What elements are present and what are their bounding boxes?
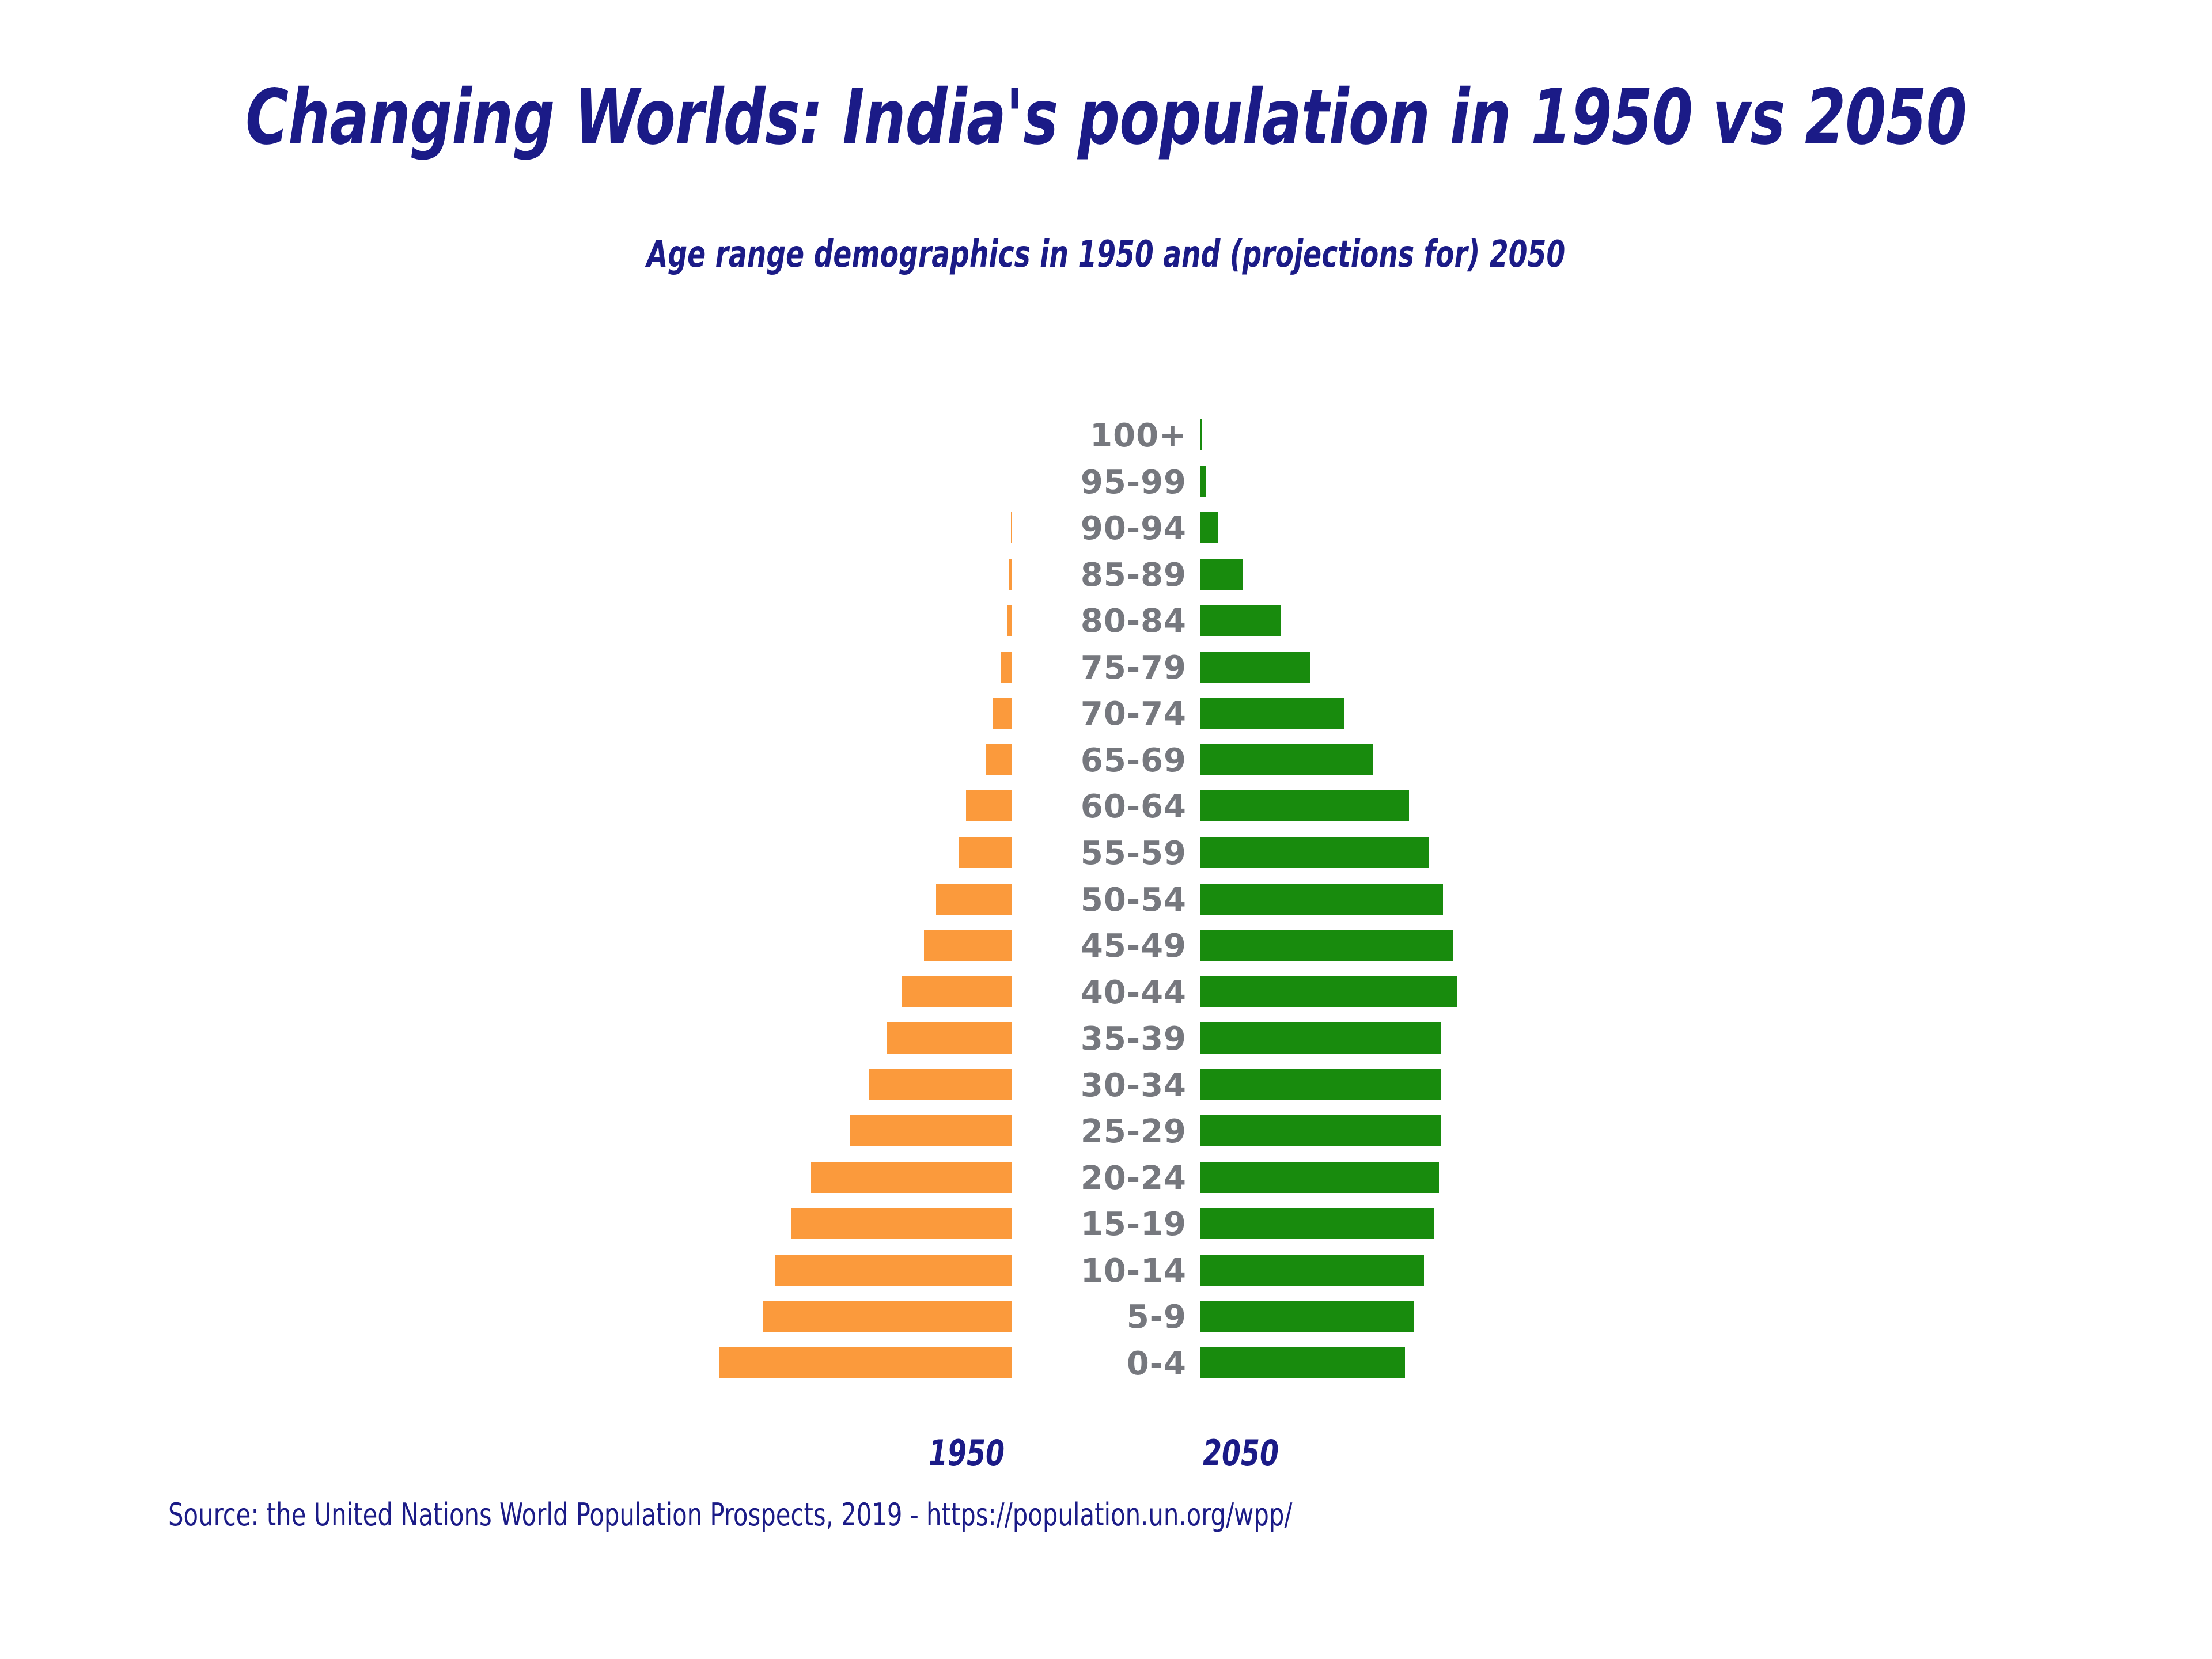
bar-2050 [1200,466,1206,497]
bar-1950 [887,1022,1012,1054]
bar-2050 [1200,419,1202,450]
bar-2050 [1200,1115,1441,1146]
bar-1950 [986,744,1012,775]
bar-2050 [1200,884,1443,915]
bar-1950 [775,1255,1012,1286]
pyramid-row: 55-59 [0,837,2212,868]
bar-2050 [1200,837,1429,868]
pyramid-row: 5-9 [0,1301,2212,1332]
age-range-label: 25-29 [1031,1113,1187,1150]
source-note: Source: the United Nations World Populat… [168,1497,1292,1533]
bar-2050 [1200,744,1373,775]
pyramid-row: 15-19 [0,1208,2212,1239]
bar-1950 [1012,466,1012,497]
pyramid-row: 100+ [0,419,2212,450]
pyramid-row: 30-34 [0,1069,2212,1100]
bar-1950 [850,1115,1012,1146]
bar-1950 [763,1301,1012,1332]
bar-2050 [1200,1162,1439,1193]
bar-1950 [993,698,1012,729]
age-range-label: 100+ [1031,417,1187,454]
pyramid-row: 85-89 [0,559,2212,590]
age-range-label: 10-14 [1031,1252,1187,1290]
bar-2050 [1200,1022,1441,1054]
bar-2050 [1200,605,1281,636]
bar-2050 [1200,698,1344,729]
age-range-label: 45-49 [1031,927,1187,965]
bar-1950 [869,1069,1012,1100]
age-range-label: 55-59 [1031,835,1187,872]
population-pyramid-chart: 100+95-9990-9485-8980-8475-7970-7465-696… [0,0,2212,1659]
age-range-label: 15-19 [1031,1206,1187,1243]
pyramid-row: 60-64 [0,790,2212,821]
pyramid-row: 25-29 [0,1115,2212,1146]
bar-2050 [1200,1255,1424,1286]
age-range-label: 65-69 [1031,742,1187,779]
pyramid-row: 75-79 [0,652,2212,683]
bar-1950 [1007,605,1012,636]
bar-1950 [902,976,1012,1007]
age-range-label: 30-34 [1031,1067,1187,1104]
bar-1950 [1001,652,1012,683]
pyramid-row: 20-24 [0,1162,2212,1193]
age-range-label: 50-54 [1031,881,1187,919]
age-range-label: 20-24 [1031,1160,1187,1197]
age-range-label: 70-74 [1031,695,1187,733]
bar-2050 [1200,790,1409,821]
age-range-label: 95-99 [1031,464,1187,501]
age-range-label: 90-94 [1031,510,1187,547]
bar-1950 [936,884,1012,915]
age-range-label: 75-79 [1031,649,1187,687]
bar-2050 [1200,512,1218,543]
pyramid-row: 10-14 [0,1255,2212,1286]
bar-1950 [811,1162,1012,1193]
pyramid-row: 95-99 [0,466,2212,497]
bar-1950 [959,837,1012,868]
age-range-label: 85-89 [1031,556,1187,594]
pyramid-row: 40-44 [0,976,2212,1007]
pyramid-row: 45-49 [0,930,2212,961]
bar-2050 [1200,1069,1441,1100]
legend-label-1950: 1950 [929,1432,1005,1474]
pyramid-row: 70-74 [0,698,2212,729]
pyramid-row: 90-94 [0,512,2212,543]
pyramid-row: 0-4 [0,1347,2212,1378]
bar-2050 [1200,652,1310,683]
age-range-label: 35-39 [1031,1020,1187,1058]
bar-2050 [1200,1301,1414,1332]
bar-2050 [1200,1208,1434,1239]
bar-1950 [966,790,1012,821]
age-range-label: 80-84 [1031,603,1187,640]
pyramid-row: 65-69 [0,744,2212,775]
bar-1950 [1009,559,1012,590]
bar-1950 [924,930,1012,961]
bar-2050 [1200,976,1457,1007]
legend-label-2050: 2050 [1203,1432,1279,1474]
age-range-label: 0-4 [1031,1345,1187,1382]
pyramid-row: 35-39 [0,1022,2212,1054]
pyramid-row: 50-54 [0,884,2212,915]
bar-2050 [1200,930,1453,961]
age-range-label: 40-44 [1031,974,1187,1012]
bar-1950 [791,1208,1013,1239]
age-range-label: 60-64 [1031,788,1187,825]
pyramid-row: 80-84 [0,605,2212,636]
bar-2050 [1200,559,1243,590]
bar-1950 [719,1347,1012,1378]
bar-1950 [1011,512,1012,543]
bar-2050 [1200,1347,1405,1378]
age-range-label: 5-9 [1031,1298,1187,1336]
